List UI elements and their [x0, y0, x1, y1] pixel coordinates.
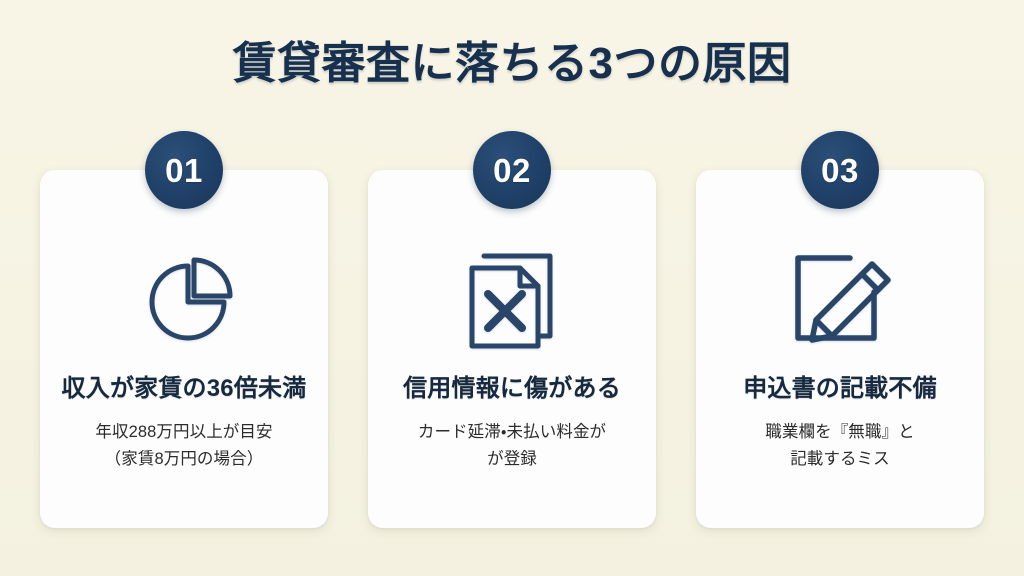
card-body-line-1: 職業欄を『無職』と — [714, 419, 966, 446]
card-body-line-2: （家賃8万円の場合） — [58, 446, 310, 473]
badge-number: 02 — [493, 154, 531, 187]
card-body: 職業欄を『無職』と 記載するミス — [714, 419, 966, 472]
pie-chart-icon — [124, 232, 244, 360]
reason-card-1[interactable]: 01 収入が家賃の36倍未満 年収288万円以上が目安 （家賃8万円の場合） — [40, 170, 328, 528]
edit-pencil-icon — [780, 232, 900, 360]
card-body-line-1: 年収288万円以上が目安 — [58, 419, 310, 446]
card-body: カード延滞・未払い料金が が登録 — [386, 419, 638, 472]
badge-number: 03 — [821, 154, 859, 187]
card-heading: 信用情報に傷がある — [368, 374, 656, 404]
cards-row: 01 収入が家賃の36倍未満 年収288万円以上が目安 （家賃8万円の場合） 0… — [40, 170, 984, 528]
card-body-line-2: 記載するミス — [714, 446, 966, 473]
number-badge-3: 03 — [801, 131, 879, 209]
page-title: 賃貸審査に落ちる3つの原因 — [0, 38, 1024, 90]
card-body: 年収288万円以上が目安 （家賃8万円の場合） — [58, 419, 310, 472]
number-badge-1: 01 — [145, 131, 223, 209]
card-heading: 申込書の記載不備 — [696, 374, 984, 404]
badge-number: 01 — [165, 154, 203, 187]
document-x-icon — [452, 232, 572, 360]
reason-card-3[interactable]: 03 申込書の記載不備 職業欄を『無職』と 記載するミス — [696, 170, 984, 528]
card-body-line-1: カード延滞・未払い料金が — [386, 419, 638, 446]
reason-card-2[interactable]: 02 信用情報に傷がある カード延滞・未払い料金が が登録 — [368, 170, 656, 528]
card-body-line-2: が登録 — [386, 446, 638, 473]
number-badge-2: 02 — [473, 131, 551, 209]
card-heading: 収入が家賃の36倍未満 — [40, 374, 328, 404]
slide-canvas: 賃貸審査に落ちる3つの原因 01 収入が家賃の36倍未満 年収288万円以上が目… — [0, 0, 1024, 576]
